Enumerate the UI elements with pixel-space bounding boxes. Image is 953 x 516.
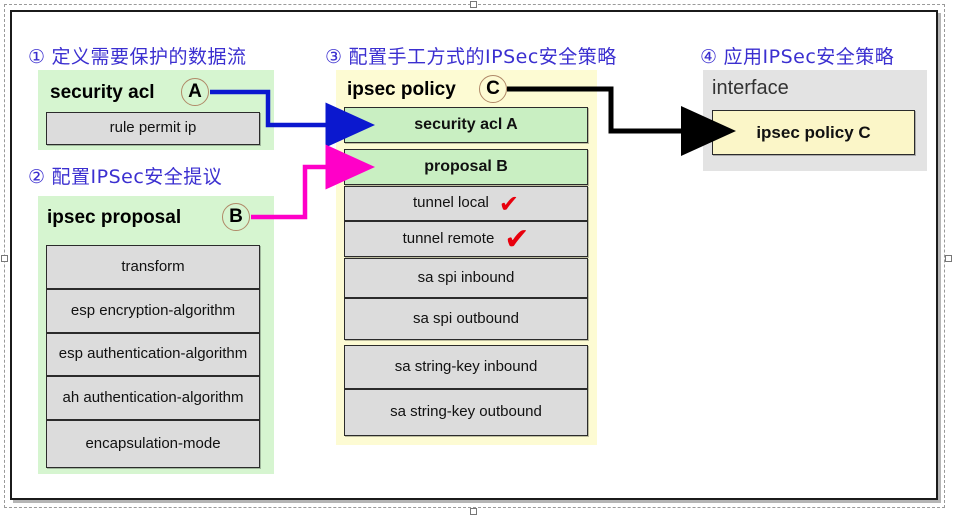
proposal-row-label: ah authentication-algorithm: [63, 390, 244, 407]
acl-row-label: rule permit ip: [110, 120, 197, 137]
selection-handle-top[interactable]: [470, 1, 477, 8]
proposal-row-label: transform: [121, 259, 184, 276]
interface-title: interface: [712, 78, 789, 98]
acl-title: security acl: [50, 83, 155, 102]
policy-row-sa-spi-outbound[interactable]: sa spi outbound: [344, 298, 588, 340]
policy-row-label: sa string-key inbound: [395, 359, 538, 376]
proposal-row-encapsulation-mode[interactable]: encapsulation-mode: [46, 420, 260, 468]
policy-row-tunnel-local[interactable]: tunnel local ✔: [344, 186, 588, 221]
proposal-row-label: esp authentication-algorithm: [59, 346, 247, 363]
interface-row-ipsec-policy-c[interactable]: ipsec policy C: [712, 110, 915, 155]
proposal-row-esp-authentication-algorithm[interactable]: esp authentication-algorithm: [46, 333, 260, 376]
proposal-row-label: esp encryption-algorithm: [71, 303, 235, 320]
policy-row-label: sa spi inbound: [418, 270, 515, 287]
policy-row-label: security acl A: [414, 116, 517, 134]
step-1-text: 定义需要保护的数据流: [52, 46, 247, 68]
acl-row-rule-permit-ip[interactable]: rule permit ip: [46, 112, 260, 145]
acl-badge-a: A: [181, 78, 209, 106]
step-3-number: ③: [325, 46, 343, 68]
proposal-row-ah-authentication-algorithm[interactable]: ah authentication-algorithm: [46, 376, 260, 420]
diagram-canvas: ①定义需要保护的数据流 security acl A rule permit i…: [0, 0, 953, 516]
policy-row-label: tunnel local: [413, 195, 489, 212]
step-2-number: ②: [28, 166, 46, 188]
step-3-text: 配置手工方式的IPSec安全策略: [349, 46, 617, 68]
step-1-number: ①: [28, 46, 46, 68]
policy-row-tunnel-remote[interactable]: tunnel remote ✔: [344, 221, 588, 257]
policy-row-label: tunnel remote: [403, 231, 495, 248]
policy-title: ipsec policy: [347, 80, 456, 99]
proposal-row-transform[interactable]: transform: [46, 245, 260, 289]
proposal-row-label: encapsulation-mode: [85, 436, 220, 453]
interface-row-label: ipsec policy C: [756, 123, 870, 142]
step-4-header: ④应用IPSec安全策略: [700, 42, 894, 69]
step-2-text: 配置IPSec安全提议: [52, 166, 223, 188]
proposal-row-esp-encryption-algorithm[interactable]: esp encryption-algorithm: [46, 289, 260, 333]
policy-row-label: proposal B: [424, 158, 508, 176]
policy-row-sa-string-key-inbound[interactable]: sa string-key inbound: [344, 345, 588, 389]
policy-row-proposal-b[interactable]: proposal B: [344, 149, 588, 185]
policy-row-label: sa string-key outbound: [390, 404, 542, 421]
proposal-badge-b: B: [222, 203, 250, 231]
step-4-number: ④: [700, 46, 718, 68]
policy-row-sa-string-key-outbound[interactable]: sa string-key outbound: [344, 389, 588, 436]
policy-row-security-acl-a[interactable]: security acl A: [344, 107, 588, 143]
selection-handle-left[interactable]: [1, 255, 8, 262]
step-2-header: ②配置IPSec安全提议: [28, 162, 222, 189]
policy-row-sa-spi-inbound[interactable]: sa spi inbound: [344, 258, 588, 298]
step-1-header: ①定义需要保护的数据流: [28, 42, 247, 69]
selection-handle-right[interactable]: [945, 255, 952, 262]
selection-handle-bottom[interactable]: [470, 508, 477, 515]
policy-row-label: sa spi outbound: [413, 311, 519, 328]
proposal-title: ipsec proposal: [47, 208, 181, 227]
step-3-header: ③配置手工方式的IPSec安全策略: [325, 42, 617, 69]
policy-badge-c: C: [479, 75, 507, 103]
step-4-text: 应用IPSec安全策略: [724, 46, 895, 68]
